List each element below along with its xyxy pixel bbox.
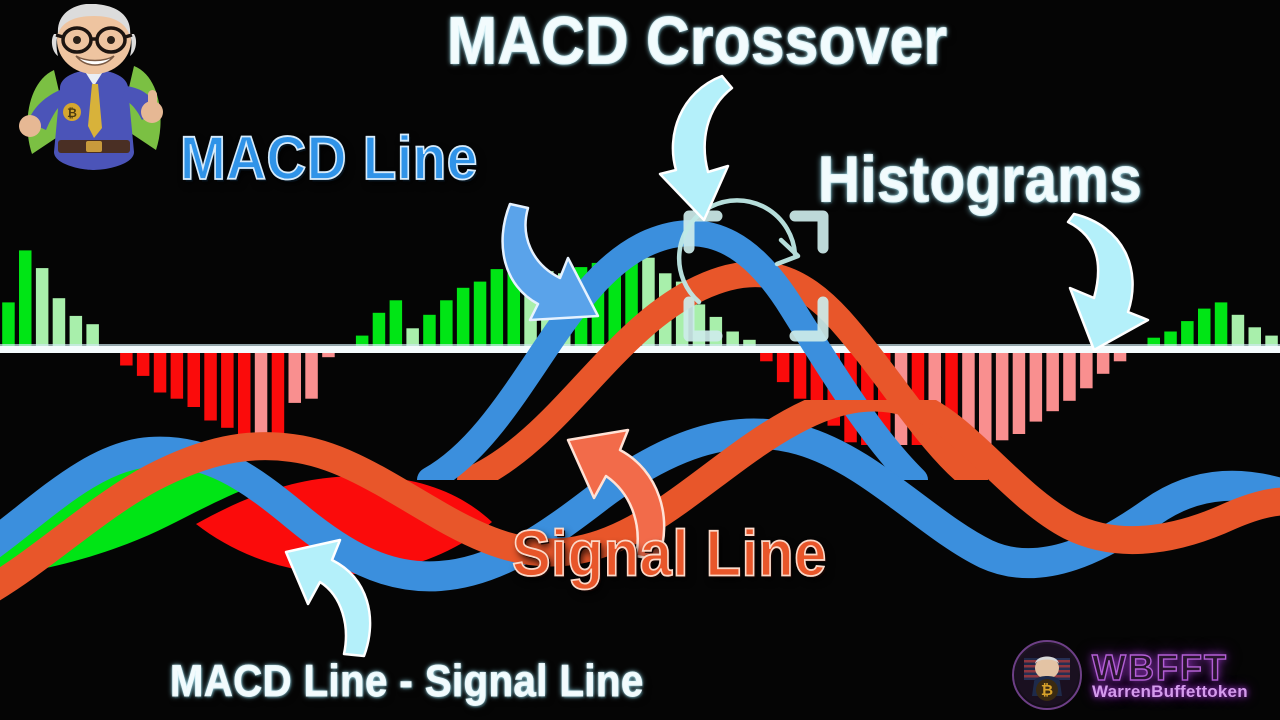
focus-bracket-top-right [795, 216, 823, 248]
watermark-badge-icon: ₿ [1012, 640, 1082, 710]
crossover-arrow [650, 70, 780, 230]
macd-line-label: MACD Line [180, 122, 478, 194]
watermark-logo: ₿ WBFFT WarrenBuffettoken [1012, 638, 1274, 712]
page-title: MACD Crossover [447, 2, 947, 79]
watermark-text: WBFFT WarrenBuffettoken [1092, 650, 1248, 700]
histograms-label: Histograms [818, 142, 1142, 217]
formula-arrow [280, 530, 390, 660]
watermark-brand: WBFFT [1092, 650, 1248, 686]
focus-bracket-bottom-left [689, 302, 717, 336]
focus-bracket-bottom-right [795, 302, 823, 336]
histograms-arrow [1044, 204, 1174, 354]
signal-line-label: Signal Line [512, 516, 827, 591]
macd-crossover-infographic: ₿ MACD Crossover MACD Line Histograms Si… [0, 0, 1280, 720]
svg-text:₿: ₿ [67, 106, 77, 120]
macd-line-arrow [488, 186, 628, 326]
formula-label: MACD Line - Signal Line [170, 657, 644, 707]
watermark-brand-sub: WarrenBuffettoken [1092, 683, 1248, 700]
warren-buffett-superhero-avatar: ₿ [6, 4, 182, 174]
svg-text:₿: ₿ [1041, 682, 1053, 699]
